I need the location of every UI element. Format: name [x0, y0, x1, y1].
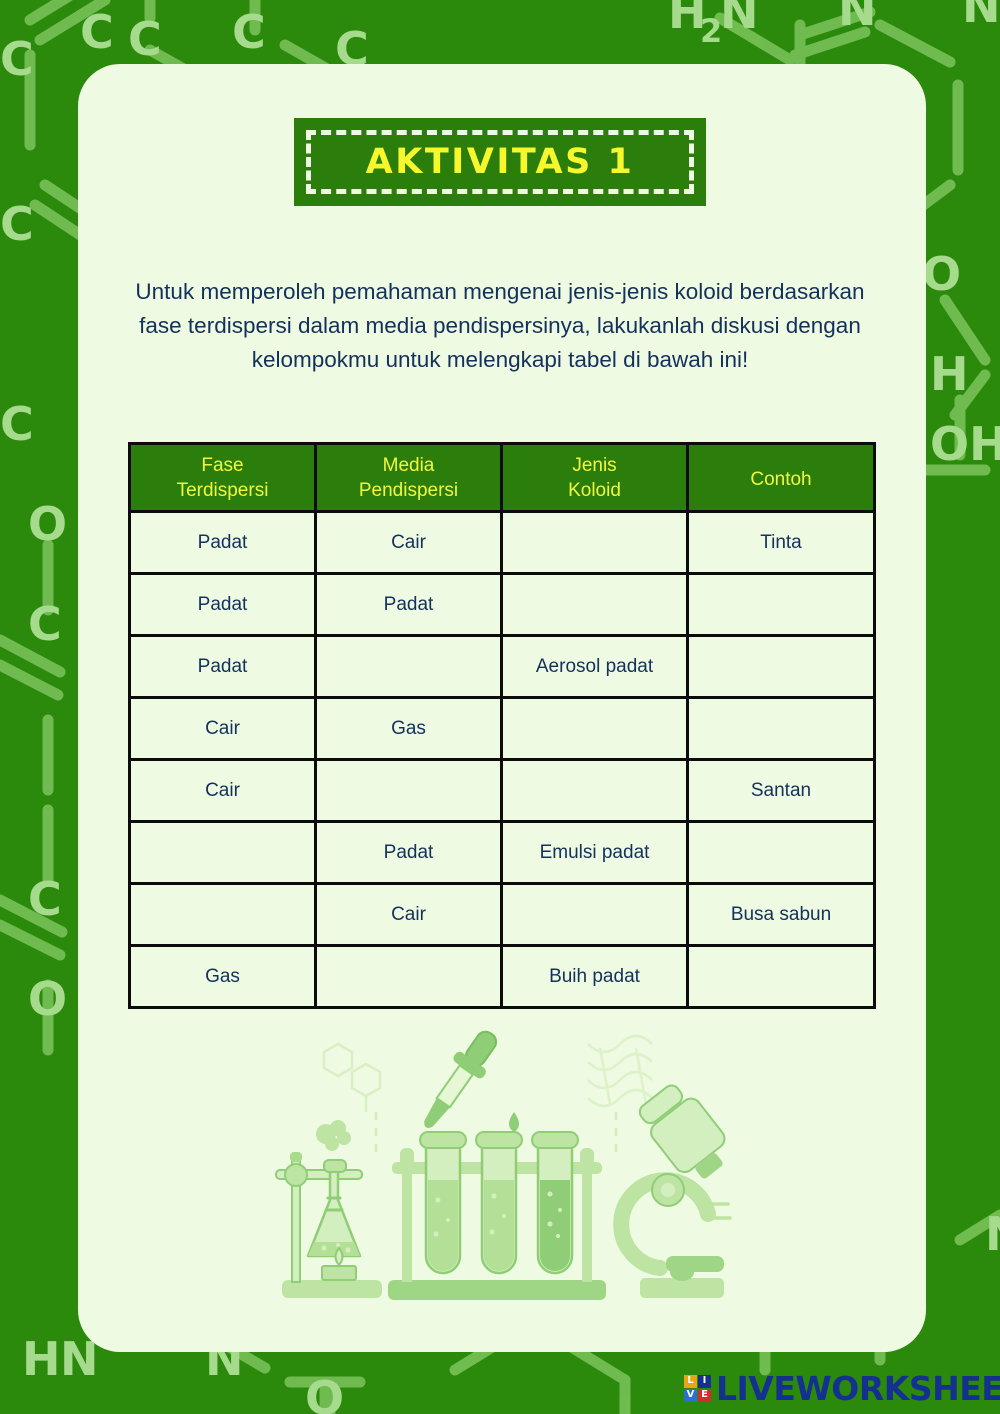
- svg-text:O: O: [28, 972, 67, 1026]
- header-line-1: Contoh: [750, 469, 811, 490]
- table-row: Padat Aerosol padat: [130, 636, 875, 698]
- cell-jenis-koloid[interactable]: Buih padat: [502, 946, 688, 1008]
- cell-jenis-koloid[interactable]: Emulsi padat: [502, 822, 688, 884]
- cell-contoh[interactable]: Busa sabun: [688, 884, 875, 946]
- table-row: Padat Cair Tinta: [130, 512, 875, 574]
- svg-text:N: N: [962, 0, 1000, 33]
- table-header-row: Fase Terdispersi Media Pendispersi Jenis…: [130, 444, 875, 512]
- cell-fase-terdispersi[interactable]: Gas: [130, 946, 316, 1008]
- koloid-types-table: Fase Terdispersi Media Pendispersi Jenis…: [128, 442, 876, 1009]
- cell-fase-terdispersi[interactable]: Cair: [130, 760, 316, 822]
- logo-square-e: E: [698, 1389, 711, 1402]
- column-header-media-pendispersi: Media Pendispersi: [316, 444, 502, 512]
- svg-text:H: H: [22, 1332, 61, 1386]
- cell-jenis-koloid[interactable]: Aerosol padat: [502, 636, 688, 698]
- svg-text:H: H: [930, 347, 969, 401]
- svg-text:C: C: [28, 872, 62, 926]
- cell-fase-terdispersi[interactable]: Cair: [130, 698, 316, 760]
- pipette-dropper: [411, 1028, 519, 1138]
- svg-text:O: O: [305, 1371, 344, 1414]
- cell-fase-terdispersi[interactable]: Padat: [130, 636, 316, 698]
- instruction-paragraph: Untuk memperoleh pemahaman mengenai jeni…: [135, 275, 865, 377]
- svg-text:2: 2: [700, 12, 722, 50]
- column-header-jenis-koloid: Jenis Koloid: [502, 444, 688, 512]
- page-title: AKTIVITAS 1: [294, 118, 706, 206]
- cell-jenis-koloid[interactable]: [502, 760, 688, 822]
- header-line-2: Pendispersi: [359, 480, 458, 501]
- svg-text:C: C: [232, 5, 266, 59]
- svg-text:C: C: [0, 32, 34, 86]
- svg-text:C: C: [0, 197, 34, 251]
- table-row: Padat Emulsi padat: [130, 822, 875, 884]
- cell-media-pendispersi[interactable]: [316, 946, 502, 1008]
- flask-and-stand: [276, 1120, 382, 1298]
- cell-jenis-koloid[interactable]: [502, 512, 688, 574]
- table-row: Gas Buih padat: [130, 946, 875, 1008]
- svg-text:N: N: [720, 0, 759, 39]
- cell-fase-terdispersi[interactable]: Padat: [130, 574, 316, 636]
- cell-media-pendispersi[interactable]: Cair: [316, 884, 502, 946]
- svg-text:N: N: [985, 1207, 1000, 1261]
- activity-title-banner: AKTIVITAS 1: [294, 118, 706, 206]
- chemistry-lab-illustration: [268, 1028, 732, 1320]
- header-line-1: Fase: [201, 455, 243, 476]
- cell-media-pendispersi[interactable]: Cair: [316, 512, 502, 574]
- cell-jenis-koloid[interactable]: [502, 574, 688, 636]
- cell-contoh[interactable]: [688, 822, 875, 884]
- microscope: [621, 1077, 732, 1298]
- cell-jenis-koloid[interactable]: [502, 698, 688, 760]
- table-row: Cair Busa sabun: [130, 884, 875, 946]
- cell-contoh[interactable]: [688, 574, 875, 636]
- logo-square-l: L: [684, 1375, 697, 1388]
- header-line-1: Media: [383, 455, 435, 476]
- cell-jenis-koloid[interactable]: [502, 884, 688, 946]
- cell-contoh[interactable]: Tinta: [688, 512, 875, 574]
- cell-contoh[interactable]: [688, 636, 875, 698]
- cell-media-pendispersi[interactable]: [316, 760, 502, 822]
- svg-text:N: N: [838, 0, 877, 36]
- cell-fase-terdispersi[interactable]: Padat: [130, 512, 316, 574]
- cell-fase-terdispersi[interactable]: [130, 884, 316, 946]
- cell-fase-terdispersi[interactable]: [130, 822, 316, 884]
- cell-contoh[interactable]: [688, 698, 875, 760]
- header-line-2: Terdispersi: [177, 480, 269, 501]
- column-header-contoh: Contoh: [688, 444, 875, 512]
- table-row: Padat Padat: [130, 574, 875, 636]
- logo-square-i: I: [698, 1375, 711, 1388]
- svg-text:C: C: [28, 597, 62, 651]
- svg-text:O: O: [28, 497, 67, 551]
- cell-media-pendispersi[interactable]: [316, 636, 502, 698]
- liveworksheets-logo[interactable]: L I V E LIVEWORKSHEETS: [684, 1366, 1000, 1410]
- cell-contoh[interactable]: Santan: [688, 760, 875, 822]
- table-row: Cair Gas: [130, 698, 875, 760]
- svg-text:C: C: [128, 12, 162, 66]
- test-tube-rack: [388, 1132, 606, 1300]
- cell-media-pendispersi[interactable]: Gas: [316, 698, 502, 760]
- liveworksheets-logo-squares: L I V E: [684, 1375, 711, 1402]
- cell-media-pendispersi[interactable]: Padat: [316, 574, 502, 636]
- cell-media-pendispersi[interactable]: Padat: [316, 822, 502, 884]
- logo-square-v: V: [684, 1389, 697, 1402]
- svg-text:O: O: [922, 247, 961, 301]
- cell-contoh[interactable]: [688, 946, 875, 1008]
- svg-text:OH: OH: [930, 417, 1000, 471]
- column-header-fase-terdispersi: Fase Terdispersi: [130, 444, 316, 512]
- header-line-2: Koloid: [568, 480, 621, 501]
- liveworksheets-wordmark: LIVEWORKSHEETS: [716, 1369, 1000, 1408]
- table-row: Cair Santan: [130, 760, 875, 822]
- svg-text:C: C: [0, 397, 34, 451]
- svg-text:C: C: [80, 5, 114, 59]
- header-line-1: Jenis: [572, 455, 616, 476]
